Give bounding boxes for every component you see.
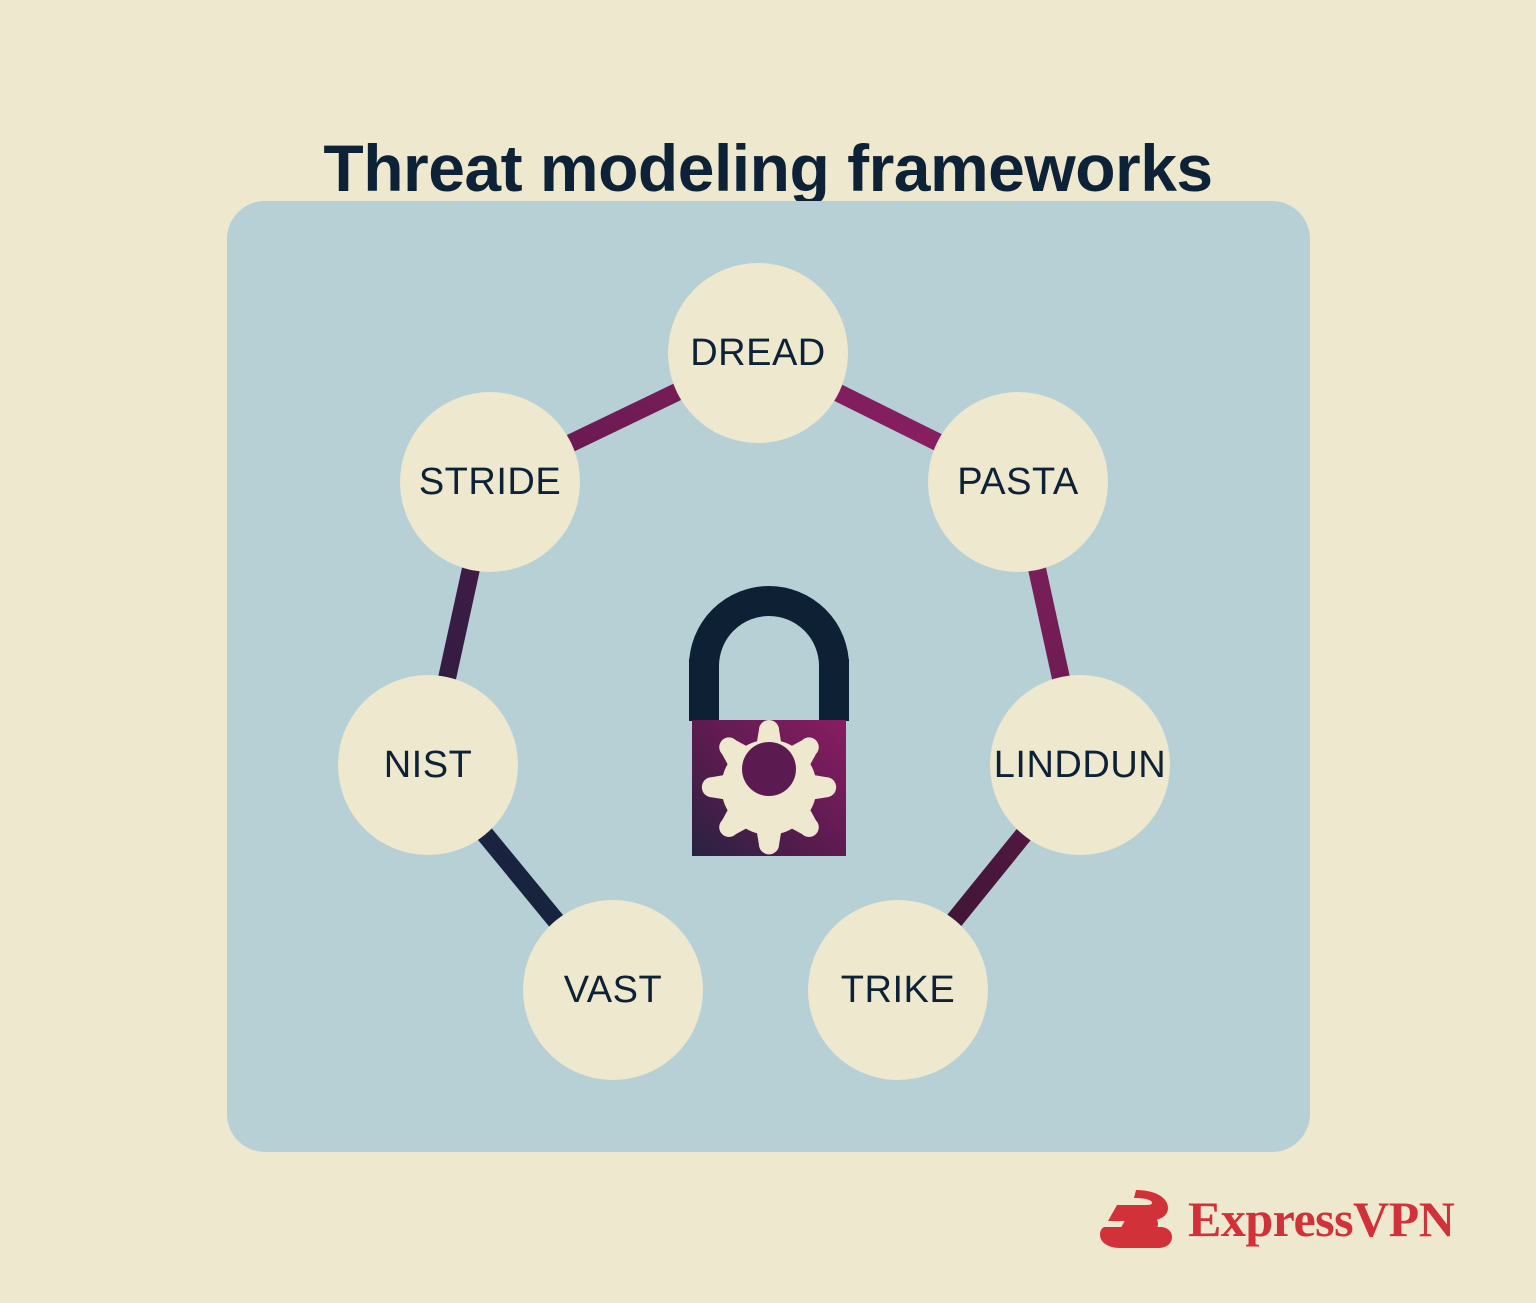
node-label: NIST bbox=[384, 744, 473, 786]
expressvpn-e-mark bbox=[1098, 1188, 1174, 1250]
node-nist[interactable]: NIST bbox=[338, 675, 518, 855]
node-trike[interactable]: TRIKE bbox=[808, 900, 988, 1080]
node-label: VAST bbox=[564, 969, 662, 1011]
expressvpn-logo[interactable]: ExpressVPN bbox=[1098, 1188, 1454, 1250]
page-title: Threat modeling frameworks bbox=[0, 132, 1536, 205]
node-dread[interactable]: DREAD bbox=[668, 263, 848, 443]
node-pasta[interactable]: PASTA bbox=[928, 392, 1108, 572]
padlock-gear-icon bbox=[689, 601, 849, 856]
node-label: TRIKE bbox=[841, 969, 955, 1011]
node-label: LINDDUN bbox=[994, 744, 1166, 786]
node-vast[interactable]: VAST bbox=[523, 900, 703, 1080]
logo-text: ExpressVPN bbox=[1188, 1194, 1454, 1244]
diagram-stage: DREAD PASTA LINDDUN TRIKE VAST NIST bbox=[227, 201, 1310, 1152]
node-label: STRIDE bbox=[419, 461, 561, 503]
infographic-page: Threat modeling frameworks bbox=[0, 0, 1536, 1303]
node-stride[interactable]: STRIDE bbox=[400, 392, 580, 572]
node-label: PASTA bbox=[957, 461, 1079, 503]
node-label: DREAD bbox=[690, 332, 826, 374]
node-linddun[interactable]: LINDDUN bbox=[990, 675, 1170, 855]
